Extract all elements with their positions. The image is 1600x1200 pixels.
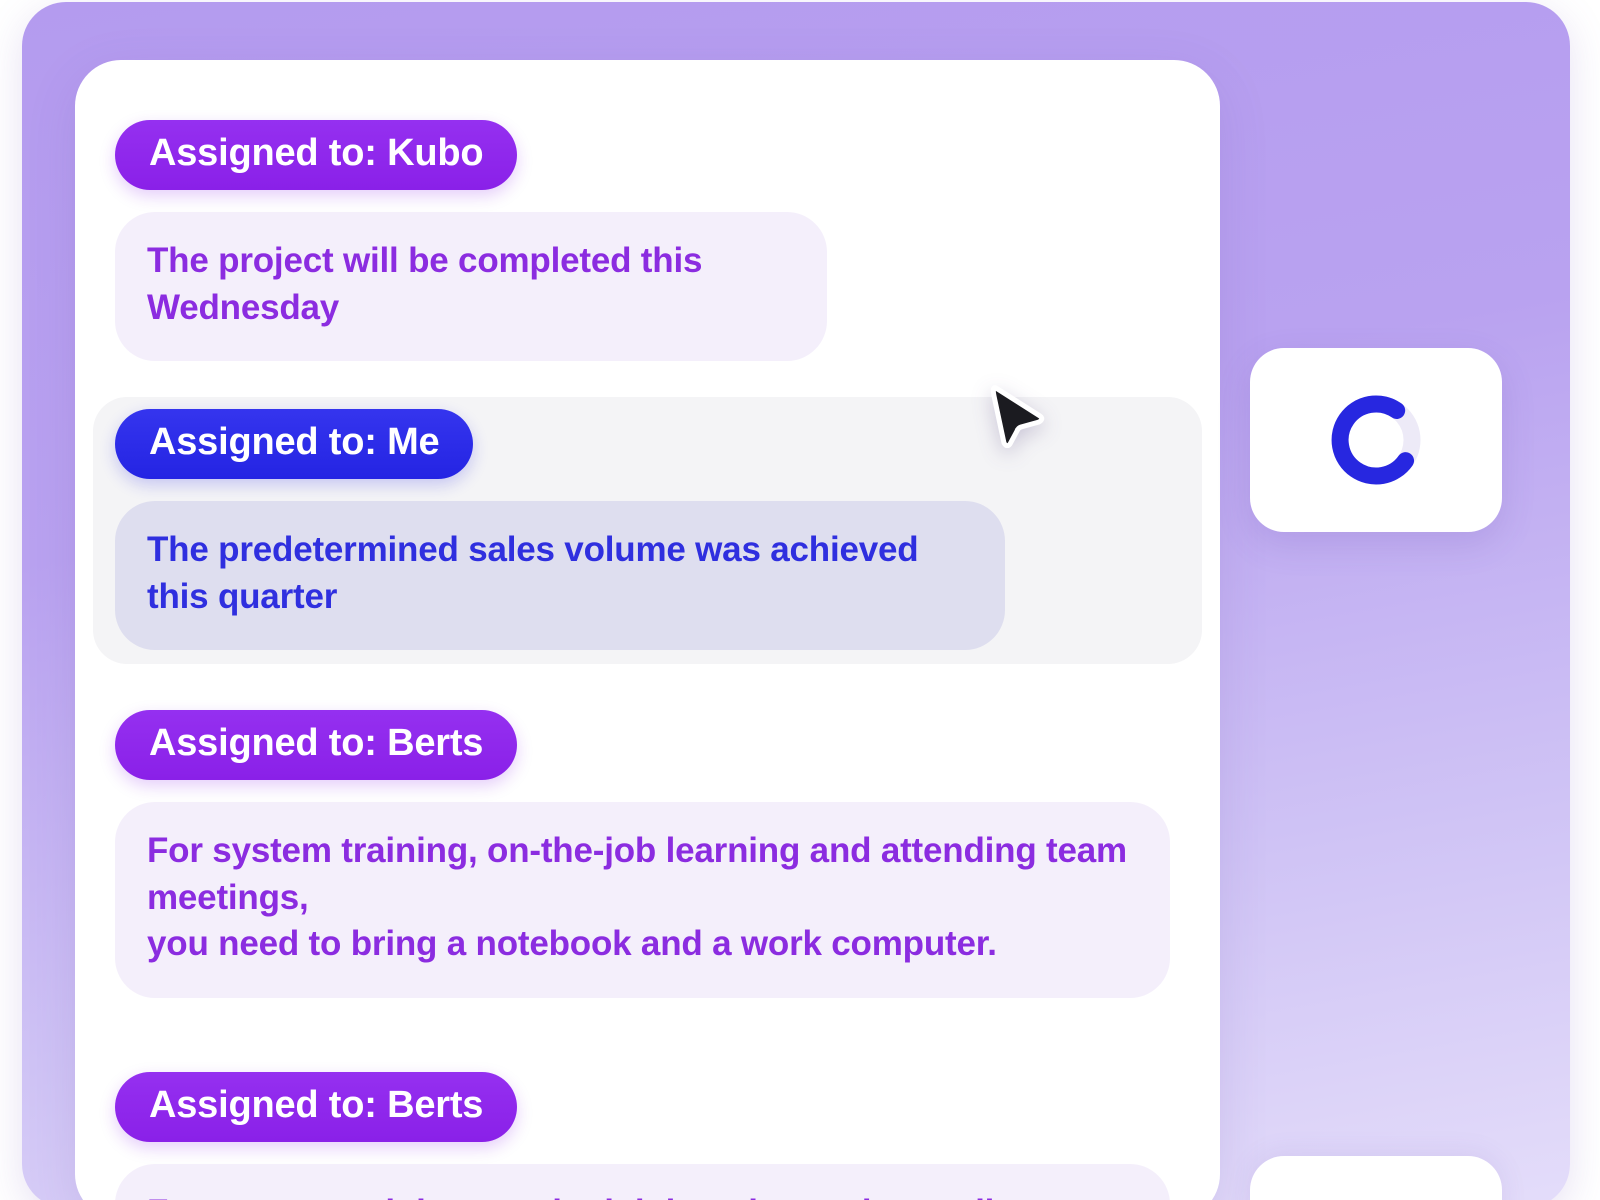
task-message-bubble: The project will be completed this Wedne… bbox=[115, 212, 827, 361]
secondary-status-card bbox=[1250, 1156, 1502, 1200]
assignee-badge-berts[interactable]: Assigned to: Berts bbox=[115, 710, 517, 780]
task-row[interactable]: Assigned to: Kubo The project will be co… bbox=[93, 108, 1202, 375]
task-message-line: For system training, on-the-job learning… bbox=[147, 828, 1138, 921]
task-row[interactable]: Assigned to: Berts For system training, … bbox=[93, 698, 1202, 1012]
task-message-bubble: For system training, on-the-job learning… bbox=[115, 1164, 1170, 1200]
task-row[interactable]: Assigned to: Berts For system training, … bbox=[93, 1060, 1202, 1200]
screenshot-stage: Assigned to: Kubo The project will be co… bbox=[0, 0, 1600, 1200]
row-spacer bbox=[75, 375, 1220, 397]
task-list: Assigned to: Kubo The project will be co… bbox=[75, 60, 1220, 1200]
task-message-line: you need to bring a notebook and a work … bbox=[147, 921, 1138, 968]
row-spacer bbox=[75, 664, 1220, 698]
row-spacer bbox=[75, 1012, 1220, 1060]
assignee-badge-kubo[interactable]: Assigned to: Kubo bbox=[115, 120, 517, 190]
task-list-card: Assigned to: Kubo The project will be co… bbox=[75, 60, 1220, 1200]
assignee-badge-me[interactable]: Assigned to: Me bbox=[115, 409, 473, 479]
task-message-bubble: For system training, on-the-job learning… bbox=[115, 802, 1170, 998]
task-message-line: The predetermined sales volume was achie… bbox=[147, 527, 973, 620]
task-message-bubble: The predetermined sales volume was achie… bbox=[115, 501, 1005, 650]
assignee-badge-berts[interactable]: Assigned to: Berts bbox=[115, 1072, 517, 1142]
loading-status-card bbox=[1250, 348, 1502, 532]
task-row-hovered[interactable]: Assigned to: Me The predetermined sales … bbox=[93, 397, 1202, 664]
task-message-line: The project will be completed this Wedne… bbox=[147, 238, 795, 331]
loading-spinner-icon bbox=[1322, 386, 1430, 494]
task-message-line: For system training, on-the-job learning… bbox=[147, 1190, 1138, 1200]
